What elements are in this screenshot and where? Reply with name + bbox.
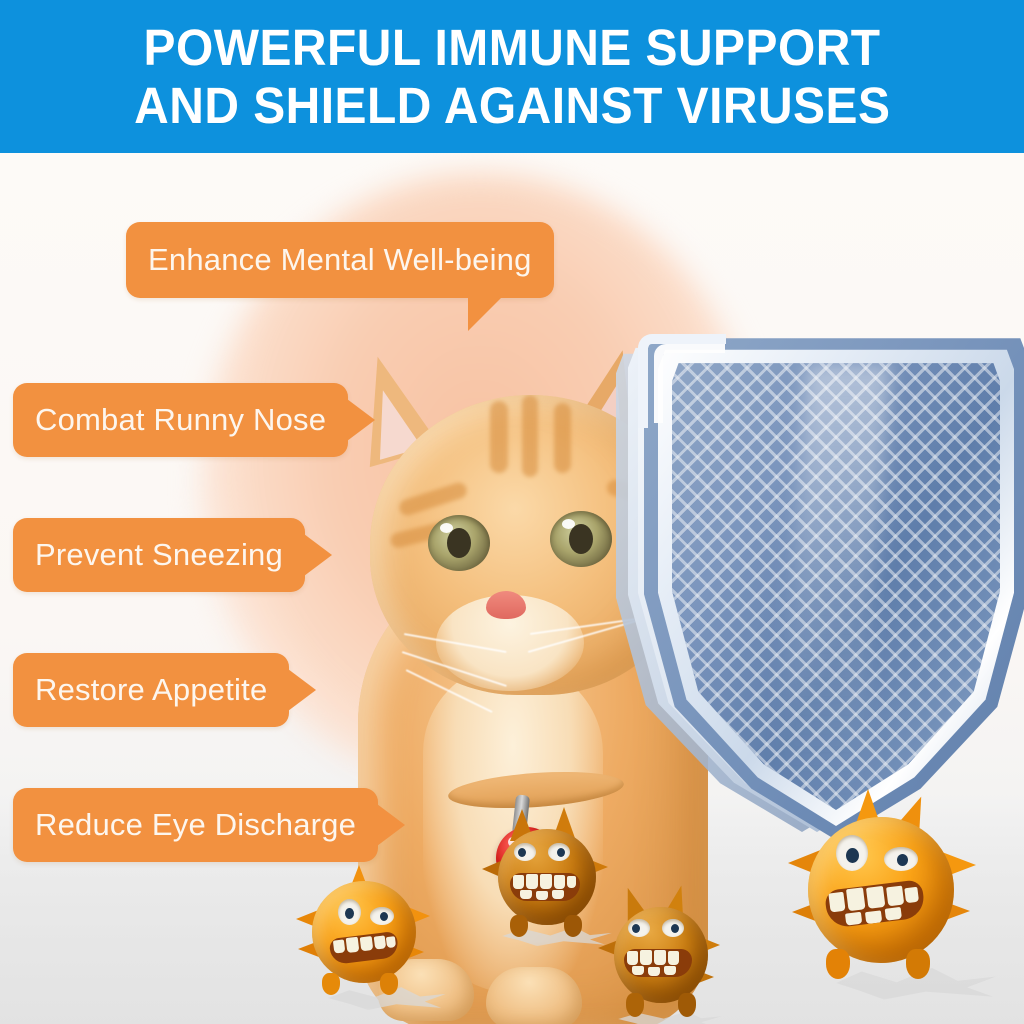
callout-reduce-eye-discharge[interactable]: Reduce Eye Discharge: [13, 788, 378, 862]
virus-foot: [564, 915, 582, 937]
callout-tail-right-icon: [288, 669, 316, 711]
virus-foot: [906, 949, 930, 979]
virus-eye: [662, 919, 684, 937]
virus-foot: [322, 973, 340, 995]
virus-character: [294, 873, 430, 1001]
callout-restore-appetite[interactable]: Restore Appetite: [13, 653, 289, 727]
callout-label: Restore Appetite: [35, 672, 267, 708]
virus-eye: [836, 835, 868, 871]
callout-tail-right-icon: [377, 804, 405, 846]
callout-label: Enhance Mental Well-being: [148, 242, 532, 278]
callout-tail-right-icon: [304, 534, 332, 576]
virus-character: [600, 893, 722, 1023]
cat-eye-glint-left: [440, 523, 453, 533]
cat-pupil-right: [569, 524, 593, 554]
cat-eye-glint-right: [562, 519, 575, 529]
cat-eye-right: [550, 511, 612, 567]
callout-combat-runny-nose[interactable]: Combat Runny Nose: [13, 383, 348, 457]
virus-eye: [884, 847, 918, 871]
promo-graphic: POWERFUL IMMUNE SUPPORT AND SHIELD AGAIN…: [0, 0, 1024, 1024]
virus-eye: [514, 843, 536, 861]
virus-body: [312, 881, 416, 983]
shield-graphic: [608, 328, 1024, 858]
virus-eye: [338, 899, 361, 925]
cat-eye-left: [428, 515, 490, 571]
cat-nose: [486, 591, 526, 619]
virus-mouth: [624, 949, 692, 977]
shield-corner-edge-inner: [654, 344, 725, 423]
banner-headline-line-2: AND SHIELD AGAINST VIRUSES: [134, 77, 890, 135]
virus-foot: [678, 993, 696, 1017]
header-banner: POWERFUL IMMUNE SUPPORT AND SHIELD AGAIN…: [0, 0, 1024, 153]
virus-foot: [380, 973, 398, 995]
virus-character: [786, 801, 980, 991]
cat-paw-right: [486, 967, 582, 1024]
virus-character: [482, 819, 610, 941]
callout-enhance-mental-well-being[interactable]: Enhance Mental Well-being: [126, 222, 554, 298]
cat-pupil-left: [447, 528, 471, 558]
virus-foot: [510, 915, 528, 937]
callout-prevent-sneezing[interactable]: Prevent Sneezing: [13, 518, 305, 592]
callout-label: Reduce Eye Discharge: [35, 807, 356, 843]
virus-foot: [826, 949, 850, 979]
callout-label: Combat Runny Nose: [35, 402, 326, 438]
callout-tail-right-icon: [347, 399, 375, 441]
virus-eye: [370, 907, 394, 925]
virus-mouth: [510, 873, 580, 901]
banner-headline-line-1: POWERFUL IMMUNE SUPPORT: [143, 19, 880, 77]
callout-label: Prevent Sneezing: [35, 537, 283, 573]
virus-foot: [626, 993, 644, 1017]
callout-tail-down-icon: [468, 297, 502, 331]
virus-eye: [628, 919, 650, 937]
virus-eye: [548, 843, 570, 861]
